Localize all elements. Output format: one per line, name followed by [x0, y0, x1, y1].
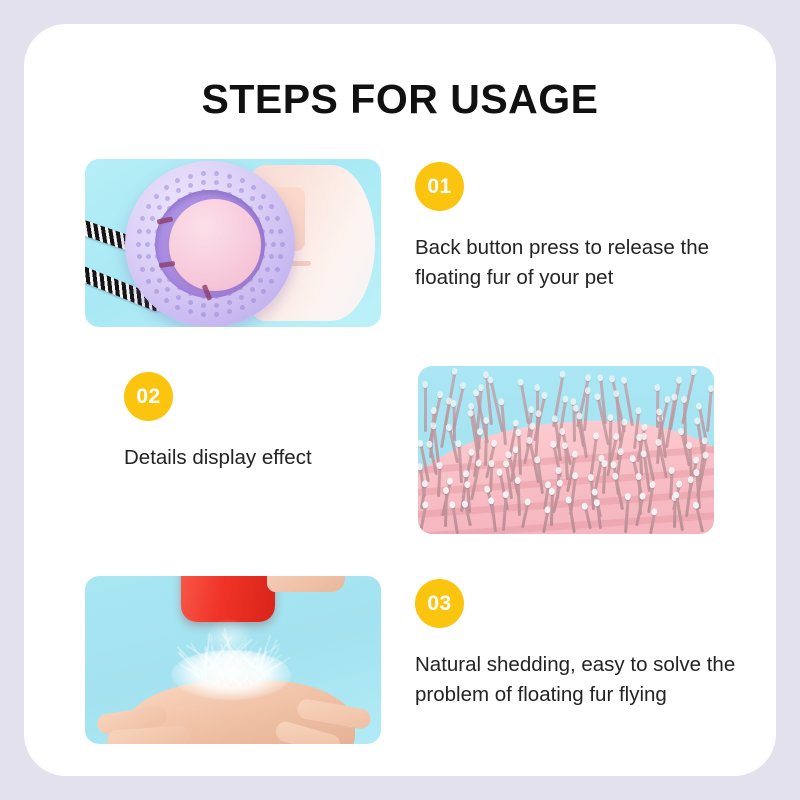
disc-dot — [150, 216, 155, 221]
bristle — [452, 506, 459, 534]
photo-scene-1 — [85, 159, 381, 327]
disc-dot — [261, 289, 266, 294]
bristle — [501, 403, 508, 446]
disc-dot — [176, 295, 181, 300]
disc-dot — [136, 242, 141, 247]
disc-dot — [227, 183, 232, 188]
disc-dot — [240, 305, 245, 310]
bristle — [675, 496, 684, 531]
disc-dot — [140, 267, 145, 272]
bristle — [491, 502, 498, 532]
disc-dot — [269, 229, 274, 234]
bristle — [624, 498, 630, 533]
step-row-03: 03 Natural shedding, easy to solve the p… — [24, 551, 776, 761]
bristle — [602, 465, 606, 495]
bristle — [419, 506, 427, 532]
step-text-block-03: 03 Natural shedding, easy to solve the p… — [415, 579, 745, 711]
step-description-01: Back button press to release the floatin… — [415, 233, 745, 294]
disc-dot — [269, 254, 274, 259]
disc-dot — [278, 229, 283, 234]
disc-dot — [269, 279, 274, 284]
disc-dot — [137, 229, 142, 234]
bristle — [706, 390, 713, 432]
disc-dot — [175, 178, 180, 183]
disc-dot — [157, 278, 162, 283]
disc-dot — [280, 242, 285, 247]
step-badge-01: 01 — [415, 162, 464, 211]
step-description-03: Natural shedding, easy to solve the prob… — [415, 650, 745, 711]
page-title: STEPS FOR USAGE — [24, 76, 776, 123]
disc-dot — [251, 185, 256, 190]
disc-dot — [150, 267, 155, 272]
disc-dot — [258, 278, 263, 283]
bristle — [521, 503, 529, 528]
bristle-detail-photo — [418, 366, 714, 534]
disc-dot — [146, 254, 151, 259]
disc-dot — [188, 174, 193, 179]
disc-dot — [164, 185, 169, 190]
step-text-block-02: 02 Details display effect — [124, 372, 454, 473]
bristle — [550, 493, 554, 526]
disc-dot — [201, 171, 206, 176]
disc-dot — [261, 194, 266, 199]
step-description-02: Details display effect — [124, 443, 454, 473]
disc-dot — [154, 194, 159, 199]
disc-dot — [239, 295, 244, 300]
red-brush-body-shape — [181, 576, 275, 622]
bristle — [635, 497, 644, 526]
bristle — [649, 513, 656, 534]
bristle — [502, 496, 508, 531]
photo-scene-3 — [85, 576, 381, 744]
disc-dot — [146, 204, 151, 209]
step-row-02: 02 Details display effect — [24, 344, 776, 554]
disc-dot — [201, 303, 206, 308]
disc-dot — [214, 312, 219, 317]
brush-back-button-photo — [85, 159, 381, 327]
bristle — [518, 434, 523, 475]
disc-dot — [157, 205, 162, 210]
step-row-01: 01 Back button press to release the floa… — [24, 134, 776, 344]
disc-dot — [137, 254, 142, 259]
step-badge-03: 03 — [415, 579, 464, 628]
fur-release-photo — [85, 576, 381, 744]
release-button-shape — [169, 199, 261, 291]
brush-back-disc — [125, 161, 295, 327]
disc-dot — [227, 174, 232, 179]
disc-dot — [250, 196, 255, 201]
bristle — [484, 422, 488, 466]
disc-dot — [214, 171, 219, 176]
bristle — [424, 386, 427, 432]
finger-shape — [296, 698, 372, 731]
holding-hand-shape — [267, 576, 345, 592]
disc-dot — [188, 309, 193, 314]
bristle — [542, 511, 549, 533]
disc-dot — [227, 300, 232, 305]
photo-scene-2 — [418, 366, 714, 534]
disc-dot — [140, 216, 145, 221]
disc-dot — [239, 188, 244, 193]
disc-dot — [176, 188, 181, 193]
disc-inner-ring — [155, 190, 265, 298]
disc-dot — [201, 312, 206, 317]
step-badge-02: 02 — [124, 372, 173, 421]
disc-dot — [201, 180, 206, 185]
disc-dot — [250, 287, 255, 292]
disc-dot — [165, 196, 170, 201]
bristle — [458, 445, 463, 483]
disc-dot — [271, 242, 276, 247]
disc-dot — [214, 180, 219, 185]
disc-dot — [214, 303, 219, 308]
bristle — [696, 506, 705, 532]
fur-clump-shape — [171, 650, 291, 700]
disc-dot — [269, 204, 274, 209]
disc-dot — [188, 300, 193, 305]
step-text-block-01: 01 Back button press to release the floa… — [415, 162, 745, 294]
disc-dot — [164, 298, 169, 303]
disc-dot — [146, 279, 151, 284]
infographic-card: STEPS FOR USAGE — [24, 24, 776, 776]
bristle — [516, 482, 520, 516]
bristle — [437, 467, 441, 497]
disc-dot — [188, 183, 193, 188]
bristle — [584, 507, 592, 529]
disc-dot — [165, 287, 170, 292]
disc-dot — [175, 305, 180, 310]
disc-dot — [265, 267, 270, 272]
bristle — [519, 383, 529, 424]
disc-dot — [145, 242, 150, 247]
disc-dot — [275, 267, 280, 272]
disc-slot — [159, 261, 176, 268]
disc-dot — [240, 178, 245, 183]
disc-dot — [154, 289, 159, 294]
disc-dot — [251, 298, 256, 303]
disc-dot — [258, 205, 263, 210]
bristle — [444, 492, 448, 527]
bristle-field — [418, 366, 714, 534]
disc-dot — [278, 254, 283, 259]
bristle — [685, 481, 693, 517]
disc-dot — [265, 216, 270, 221]
disc-dot — [275, 216, 280, 221]
disc-dot — [146, 229, 151, 234]
disc-dot — [227, 309, 232, 314]
